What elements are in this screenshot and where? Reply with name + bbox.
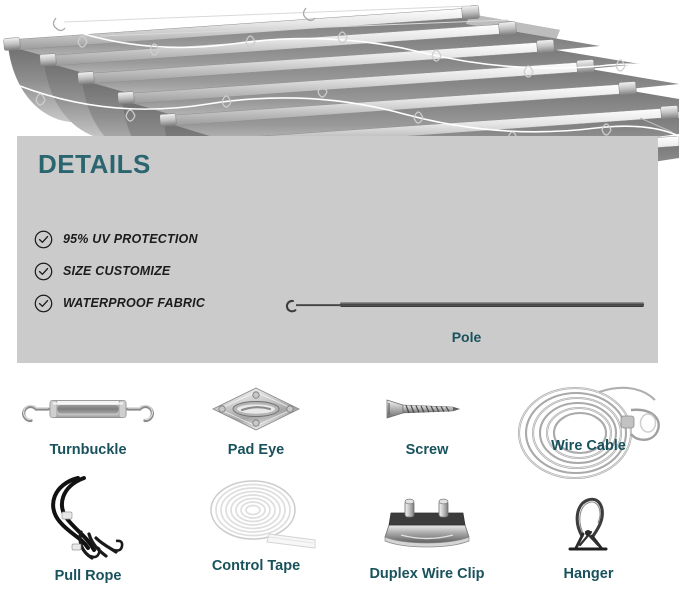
pad-eye-icon <box>176 380 336 438</box>
accessory-label: Pad Eye <box>176 442 336 458</box>
turnbuckle-icon <box>0 380 176 438</box>
pull-rope-icon <box>0 472 176 564</box>
accessory-item-hanger: Hanger <box>498 484 679 582</box>
accessory-label: Duplex Wire Clip <box>336 566 518 582</box>
screw-icon <box>336 380 518 438</box>
accessory-label: Screw <box>336 442 518 458</box>
accessory-item-turnbuckle: Turnbuckle <box>0 380 176 458</box>
accessory-label: Wire Cable <box>498 438 679 454</box>
wire-cable-icon <box>498 380 679 480</box>
feature-label: 95% UV PROTECTION <box>63 232 198 246</box>
accessory-item-pull-rope: Pull Rope <box>0 472 176 584</box>
hanger-icon <box>498 484 679 562</box>
check-circle-icon <box>34 230 53 249</box>
control-tape-icon <box>176 476 336 554</box>
details-panel: DETAILS 95% UV PROTECTION <box>17 136 658 363</box>
accessory-label: Hanger <box>498 566 679 582</box>
pole-group: Pole <box>279 291 654 353</box>
accessory-item-duplex-wire-clip: Duplex Wire Clip <box>336 484 518 582</box>
accessory-item-pad-eye: Pad Eye <box>176 380 336 458</box>
infographic-page: DETAILS 95% UV PROTECTION <box>0 0 679 611</box>
accessory-label: Control Tape <box>176 558 336 574</box>
accessory-label: Pull Rope <box>0 568 176 584</box>
accessory-label: Turnbuckle <box>0 442 176 458</box>
accessory-item-screw: Screw <box>336 380 518 458</box>
feature-label: WATERPROOF FABRIC <box>63 296 205 310</box>
accessory-grid: Turnbuckle <box>0 372 679 611</box>
check-circle-icon <box>34 294 53 313</box>
page-title: DETAILS <box>38 149 151 180</box>
feature-item-size-customize: SIZE CUSTOMIZE <box>34 256 334 286</box>
duplex-wire-clip-icon <box>336 484 518 562</box>
check-circle-icon <box>34 262 53 281</box>
pole-icon <box>279 291 654 321</box>
accessory-item-wire-cable: Wire Cable <box>498 380 679 480</box>
feature-label: SIZE CUSTOMIZE <box>63 264 170 278</box>
accessory-item-control-tape: Control Tape <box>176 476 336 574</box>
pole-label: Pole <box>279 329 654 345</box>
feature-item-uv-protection: 95% UV PROTECTION <box>34 224 334 254</box>
